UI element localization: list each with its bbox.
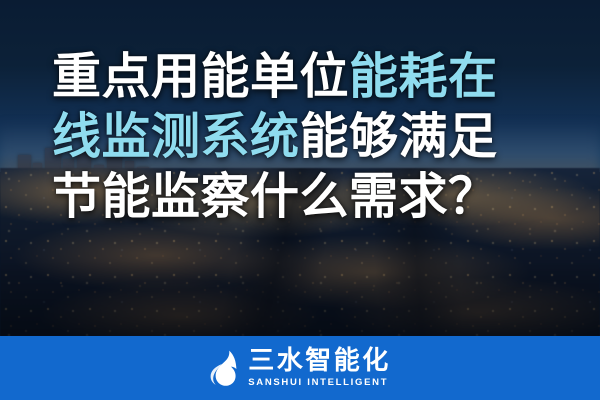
headline-segment-highlight: 线监测系统 [52,110,300,164]
headline-segment-highlight: 能耗在 [349,50,498,104]
footer-bar: 三水智能化 SANSHUI INTELLIGENT [0,336,600,400]
headline-segment: 节能监察什么需求？ [52,170,498,224]
headline-segment: 能够满足 [300,110,498,164]
promo-banner: 重点用能单位能耗在 线监测系统能够满足 节能监察什么需求？ 三水智能化 SANS… [0,0,600,400]
brand-logo[interactable]: 三水智能化 SANSHUI INTELLIGENT [209,347,391,389]
brand-name-cn: 三水智能化 [248,347,391,374]
flame-droplet-icon [209,350,239,387]
headline-line-2: 线监测系统能够满足 [52,107,552,167]
brand-name-en: SANSHUI INTELLIGENT [248,376,391,389]
headline: 重点用能单位能耗在 线监测系统能够满足 节能监察什么需求？ [52,47,552,227]
headline-line-3: 节能监察什么需求？ [52,167,552,227]
headline-segment: 重点用能单位 [52,50,349,104]
brand-logo-text: 三水智能化 SANSHUI INTELLIGENT [248,347,391,389]
headline-line-1: 重点用能单位能耗在 [52,47,552,107]
